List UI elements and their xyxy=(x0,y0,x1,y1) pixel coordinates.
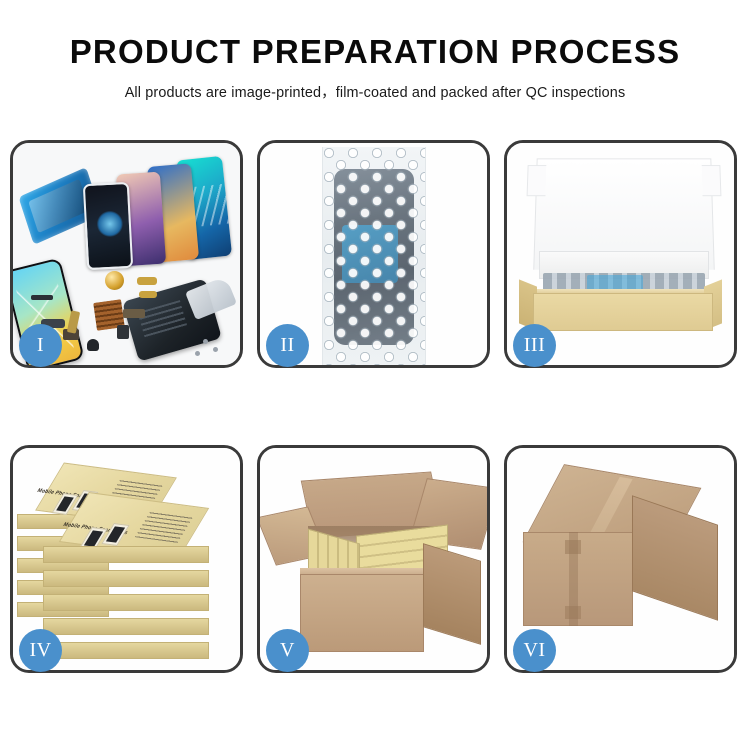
box-front-panel xyxy=(533,293,713,331)
process-step-2: II xyxy=(257,140,490,368)
part-icon xyxy=(31,295,53,300)
step-badge-4: IV xyxy=(19,629,62,672)
phone-black-icon xyxy=(83,182,133,270)
process-step-3: III xyxy=(504,140,737,368)
carton-front-panel xyxy=(300,574,424,652)
box-side xyxy=(43,642,209,659)
flex-cable-icon xyxy=(139,291,157,298)
process-step-6: VI xyxy=(504,445,737,673)
process-step-4: Mobile Phone Spare Parts Mobile Phone Sp… xyxy=(10,445,243,673)
box-side xyxy=(43,618,209,635)
screw-icon xyxy=(195,351,200,356)
part-icon xyxy=(117,325,129,339)
process-step-1: I xyxy=(10,140,243,368)
page-title: PRODUCT PREPARATION PROCESS xyxy=(0,34,750,70)
speaker-part-icon xyxy=(105,271,124,290)
box-side xyxy=(43,594,209,611)
box-side xyxy=(43,546,209,563)
flex-cable-icon xyxy=(137,277,157,285)
header: PRODUCT PREPARATION PROCESS All products… xyxy=(0,0,750,102)
step-badge-5: V xyxy=(266,629,309,672)
infographic-page: PRODUCT PREPARATION PROCESS All products… xyxy=(0,0,750,750)
step-badge-3: III xyxy=(513,324,556,367)
carton-right-panel xyxy=(632,495,718,621)
part-icon xyxy=(87,339,99,351)
step-badge-2: II xyxy=(266,324,309,367)
box-side xyxy=(43,570,209,587)
carton-tab xyxy=(565,606,581,619)
process-step-grid: I II III xyxy=(10,140,744,673)
process-step-5: V xyxy=(257,445,490,673)
step-badge-1: I xyxy=(19,324,62,367)
carton-tab xyxy=(565,540,581,554)
carton-right-panel xyxy=(423,543,481,645)
bubble-wrap-bag xyxy=(322,147,426,365)
bubble-outlines xyxy=(323,147,425,365)
screw-icon xyxy=(203,339,208,344)
step-badge-6: VI xyxy=(513,629,556,672)
part-icon xyxy=(123,309,145,318)
phone-lineup xyxy=(75,157,235,272)
page-subtitle: All products are image-printed，film-coat… xyxy=(0,81,750,102)
screw-icon xyxy=(213,347,218,352)
